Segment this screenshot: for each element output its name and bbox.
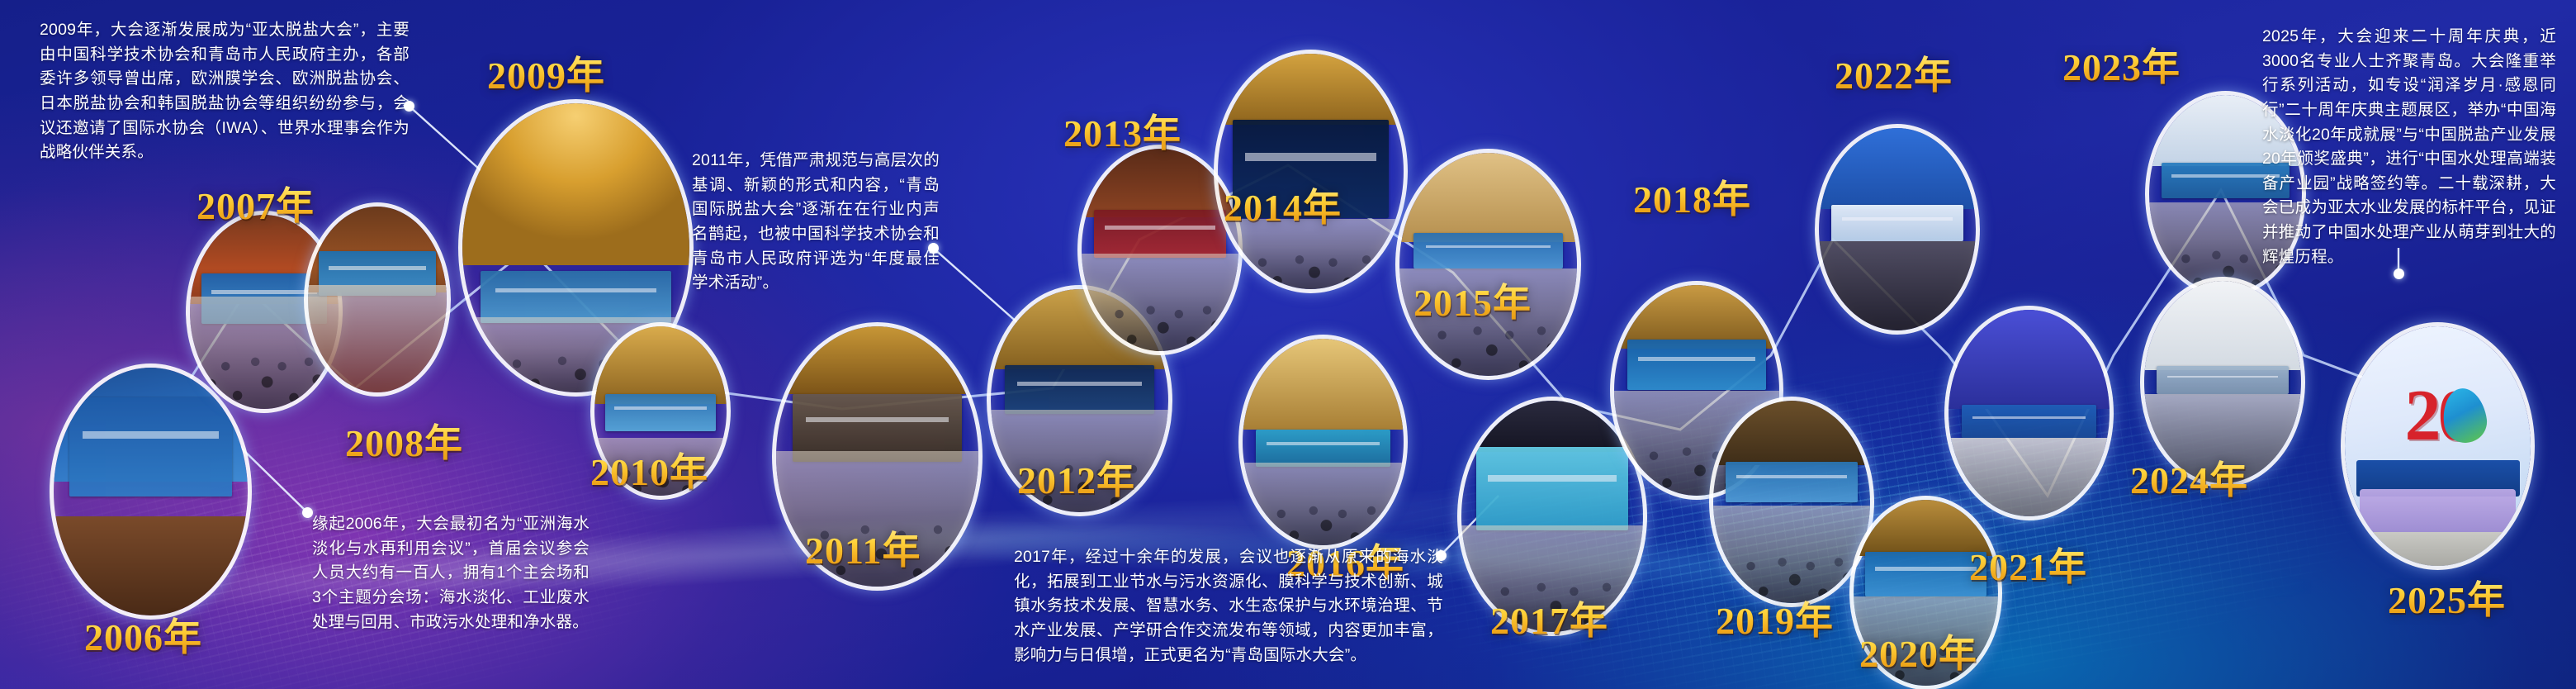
year-label-2019: 2019年 [1716,591,1834,645]
leader-dot-2017 [1436,550,1447,561]
anniversary-number: 20 [2345,374,2531,458]
year-label-2018: 2018年 [1633,169,1751,224]
annotation-2025: 2025年，大会迎来二十周年庆典，近3000名专业人士齐聚青岛。大会隆重举行系列… [2262,25,2556,269]
year-label-2006: 2006年 [84,607,202,662]
year-label-2015: 2015年 [1413,273,1532,327]
annotation-2017: 2017年，经过十余年的发展，会议也逐渐从原来的海水淡化，拓展到工业节水与污水资… [1014,545,1443,668]
photo-bubble-2014[interactable] [1214,50,1408,293]
bubble-photo-2015 [1399,153,1577,376]
photo-bubble-2021[interactable] [1944,306,2114,520]
annotation-2009: 2009年，大会逐渐发展成为“亚太脱盐大会”，主要由中国科学技术协会和青岛市人民… [40,18,410,165]
year-label-2021: 2021年 [1969,537,2087,592]
photo-bubble-2019[interactable] [1709,397,1874,607]
year-label-2012: 2012年 [1017,450,1135,505]
badge-ground [2345,532,2531,566]
photo-bubble-2022[interactable] [1815,124,1980,335]
year-label-2011: 2011年 [805,520,921,575]
year-label-2022: 2022年 [1835,45,1953,100]
bubble-photo-2019 [1713,401,1870,603]
bubble-photo-2016 [1243,339,1404,545]
year-label-2023: 2023年 [2062,37,2181,92]
year-label-2008: 2008年 [345,413,463,468]
year-label-2014: 2014年 [1224,178,1342,232]
timeline-poster: 2006年 2007年 2008年 2009年 2010 [0,0,2576,689]
bubble-photo-2022 [1819,128,1976,330]
welcome-letters [2360,489,2516,537]
bubble-photo-2021 [1949,310,2110,516]
photo-bubble-2008[interactable] [304,202,451,397]
photo-bubble-2025[interactable]: 20 [2341,322,2535,570]
year-label-2007: 2007年 [197,176,315,230]
year-label-2013: 2013年 [1063,103,1181,158]
anniversary-badge: 20 [2345,326,2531,566]
year-label-2017: 2017年 [1490,591,1608,645]
leader-dot-2011 [928,243,939,254]
year-label-2025: 2025年 [2388,570,2506,625]
annotation-2011: 2011年，凭借严肃规范与高层次的基调、新颖的形式和内容，“青岛国际脱盐大会”逐… [692,149,940,296]
photo-bubble-2015[interactable] [1395,149,1581,380]
year-label-2020: 2020年 [1859,624,1977,678]
bubble-photo-2008 [308,207,447,392]
bubble-photo-2014 [1218,54,1404,289]
leader-dot-2025 [2394,268,2404,279]
annotation-2006: 缘起2006年，大会最初名为“亚洲海水淡化与水再利用会议”，首届会议参会人员大约… [312,512,590,634]
year-label-2010: 2010年 [590,442,708,497]
leader-dot-2009 [404,101,414,112]
year-label-2009: 2009年 [487,45,605,100]
year-label-2024: 2024年 [2130,450,2248,505]
photo-bubble-2016[interactable] [1238,335,1408,549]
leader-dot-2006 [302,507,313,518]
